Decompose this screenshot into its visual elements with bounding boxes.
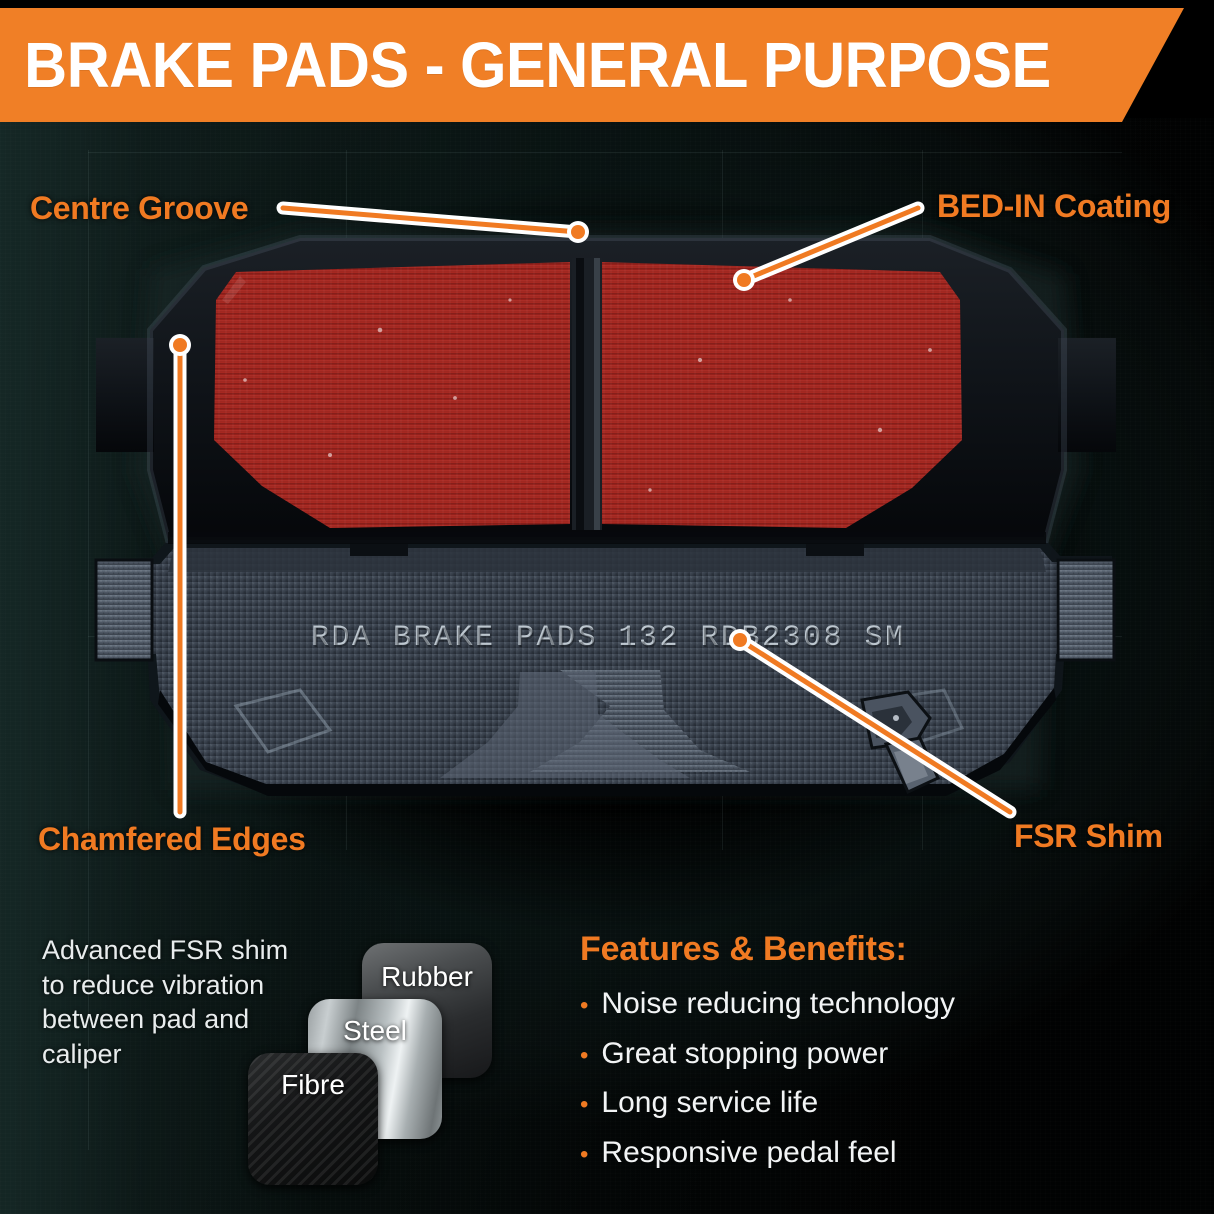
features-title: Features & Benefits:: [580, 932, 1080, 966]
feature-text: Long service life: [601, 1087, 818, 1119]
infographic-page: BRAKE PADS - GENERAL PURPOSE: [0, 0, 1214, 1214]
material-layer-stack: Rubber Steel Fibre: [238, 933, 508, 1183]
features-benefits-section: Features & Benefits: • Noise reducing te…: [580, 932, 1080, 1186]
callout-fsr-shim: FSR Shim: [1014, 820, 1163, 852]
material-chip-fibre: Fibre: [248, 1053, 378, 1185]
callout-chamfered-edges: Chamfered Edges: [38, 823, 306, 855]
bullet-icon: •: [580, 1143, 588, 1167]
feature-item: • Great stopping power: [580, 1038, 1080, 1070]
feature-item: • Noise reducing technology: [580, 988, 1080, 1020]
page-title: BRAKE PADS - GENERAL PURPOSE: [0, 33, 1051, 97]
bullet-icon: •: [580, 1093, 588, 1117]
feature-item: • Long service life: [580, 1087, 1080, 1119]
callout-centre-groove: Centre Groove: [30, 192, 248, 224]
bullet-icon: •: [580, 1044, 588, 1068]
material-label-steel: Steel: [343, 999, 407, 1047]
feature-text: Responsive pedal feel: [601, 1137, 896, 1169]
material-label-fibre: Fibre: [281, 1053, 345, 1101]
feature-item: • Responsive pedal feel: [580, 1137, 1080, 1169]
bullet-icon: •: [580, 994, 588, 1018]
callout-bed-in-coating: BED-IN Coating: [937, 190, 1171, 222]
header-banner: BRAKE PADS - GENERAL PURPOSE: [0, 8, 1184, 122]
feature-text: Noise reducing technology: [601, 988, 955, 1020]
feature-text: Great stopping power: [601, 1038, 888, 1070]
material-label-rubber: Rubber: [381, 943, 473, 993]
